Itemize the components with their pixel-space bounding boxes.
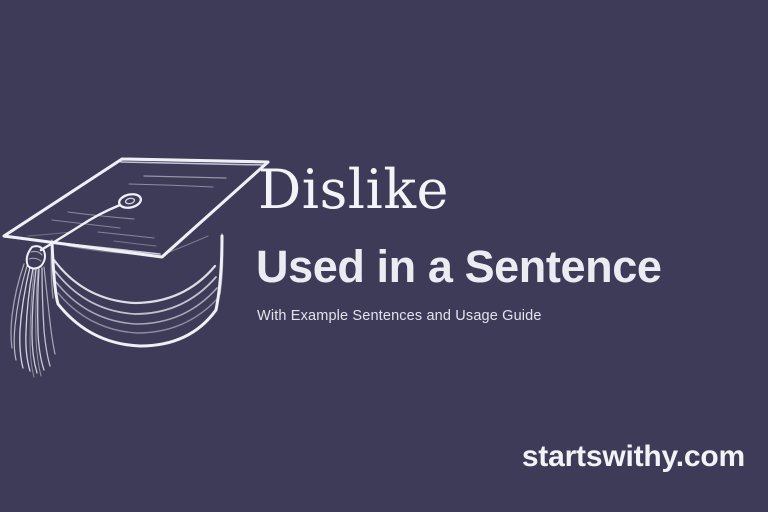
word-title: Dislike	[258, 163, 449, 217]
banner-text-block: Dislike Used in a Sentence With Example …	[0, 0, 768, 512]
page-subtitle: With Example Sentences and Usage Guide	[257, 308, 542, 324]
site-brand: startswithy.com	[522, 440, 745, 474]
word-usage-banner: Dislike Used in a Sentence With Example …	[0, 0, 768, 512]
page-title: Used in a Sentence	[256, 243, 661, 290]
